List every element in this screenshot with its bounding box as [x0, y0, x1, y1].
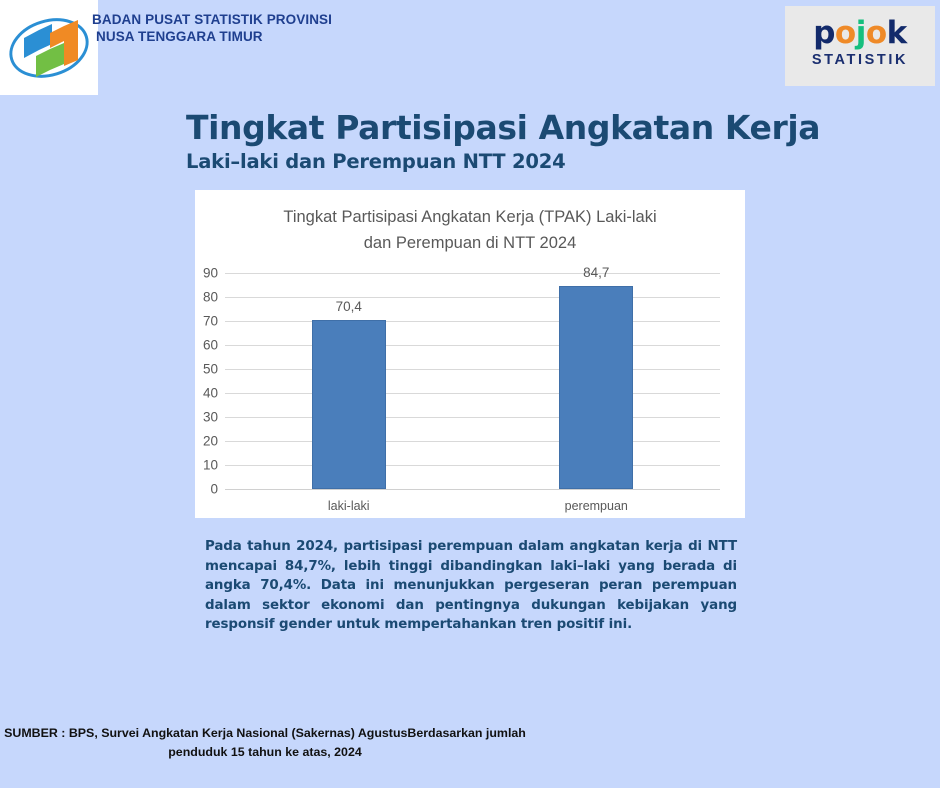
- chart-y-axis-label: 40: [203, 386, 218, 400]
- bps-logo-icon: [6, 8, 92, 88]
- chart-gridline: [225, 417, 720, 418]
- chart-y-axis-label: 30: [203, 410, 218, 424]
- pojok-letter-o2: o: [866, 15, 887, 51]
- chart-gridline: [225, 489, 720, 490]
- source-footer-line1: SUMBER : BPS, Survei Angkatan Kerja Nasi…: [4, 726, 526, 740]
- chart-bar-value-label: 84,7: [556, 265, 636, 280]
- chart-title: Tingkat Partisipasi Angkatan Kerja (TPAK…: [225, 204, 715, 256]
- chart-y-axis-label: 70: [203, 314, 218, 328]
- agency-title-line2: NUSA TENGGARA TIMUR: [92, 29, 422, 46]
- source-footer: SUMBER : BPS, Survei Angkatan Kerja Nasi…: [0, 724, 530, 762]
- chart-y-axis-label: 10: [203, 458, 218, 472]
- chart-bar: [312, 320, 386, 489]
- chart-y-axis-label: 0: [210, 482, 218, 496]
- chart-gridline: [225, 321, 720, 322]
- page-subtitle: Laki–laki dan Perempuan NTT 2024: [186, 150, 565, 173]
- chart-gridline: [225, 441, 720, 442]
- chart-gridline: [225, 297, 720, 298]
- chart-title-line1: Tingkat Partisipasi Angkatan Kerja (TPAK…: [283, 208, 656, 226]
- chart-y-axis-label: 90: [203, 266, 218, 280]
- pojok-letter-o1: o: [835, 15, 856, 51]
- chart-y-axis-label: 20: [203, 434, 218, 448]
- chart-y-axis-label: 60: [203, 338, 218, 352]
- chart-bar-value-label: 70,4: [309, 299, 389, 314]
- pojok-letter-p: p: [813, 15, 835, 51]
- chart-gridline: [225, 393, 720, 394]
- chart-bar: [559, 286, 633, 489]
- page-header: BADAN PUSAT STATISTIK PROVINSI NUSA TENG…: [0, 0, 940, 100]
- page-title: Tingkat Partisipasi Angkatan Kerja: [186, 108, 820, 147]
- pojok-statistik-logo: pojok STATISTIK: [785, 6, 935, 86]
- pojok-letter-k: k: [887, 15, 907, 51]
- chart-x-axis-label: perempuan: [536, 499, 656, 513]
- chart-gridline: [225, 369, 720, 370]
- chart-y-axis-label: 50: [203, 362, 218, 376]
- bps-logo-container: [0, 0, 98, 95]
- chart-title-line2: dan Perempuan di NTT 2024: [364, 234, 577, 252]
- pojok-subtitle: STATISTIK: [785, 52, 935, 68]
- chart-x-axis-label: laki-laki: [289, 499, 409, 513]
- pojok-wordmark: pojok: [785, 16, 935, 50]
- chart-y-axis-label: 80: [203, 290, 218, 304]
- chart-plot-area: 908070605040302010070,4laki-laki84,7pere…: [225, 273, 720, 489]
- chart-card: Tingkat Partisipasi Angkatan Kerja (TPAK…: [195, 190, 745, 518]
- pojok-letter-j: j: [856, 15, 866, 51]
- agency-title: BADAN PUSAT STATISTIK PROVINSI NUSA TENG…: [92, 12, 422, 45]
- chart-gridline: [225, 465, 720, 466]
- chart-gridline: [225, 345, 720, 346]
- chart-gridline: [225, 273, 720, 274]
- agency-title-line1: BADAN PUSAT STATISTIK PROVINSI: [92, 12, 332, 27]
- source-footer-line2: penduduk 15 tahun ke atas, 2024: [0, 743, 530, 762]
- narrative-paragraph: Pada tahun 2024, partisipasi perempuan d…: [205, 537, 737, 635]
